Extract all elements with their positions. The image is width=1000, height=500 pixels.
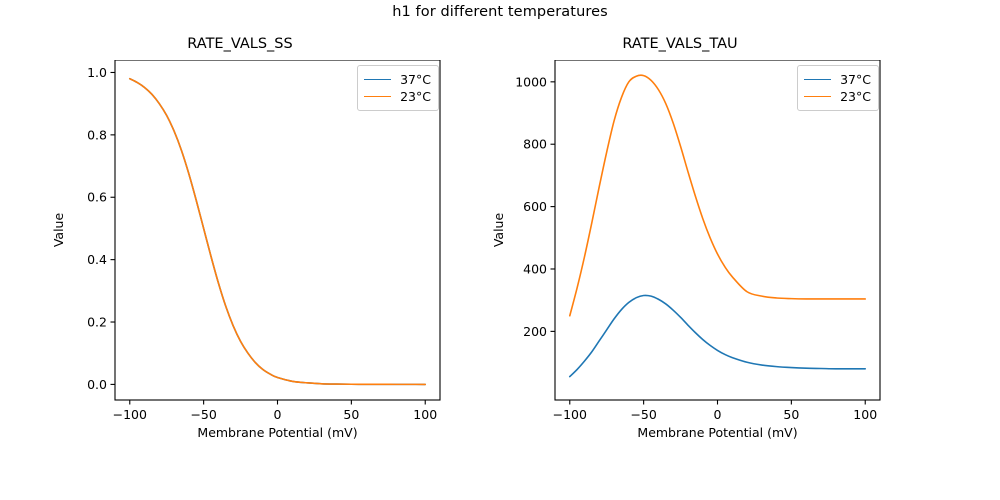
plot-area-tau: 2004006008001000−100−50050100Membrane Po…: [475, 60, 885, 440]
subplot-rate-vals-ss: RATE_VALS_SS 0.00.20.40.60.81.0−100−5005…: [35, 60, 445, 440]
legend-label: 23°C: [840, 88, 871, 105]
y-axis-label: Value: [491, 213, 506, 248]
y-tick-label: 200: [523, 324, 547, 339]
y-tick-label: 800: [523, 137, 547, 152]
legend-label: 23°C: [400, 88, 431, 105]
y-tick-label: 0.2: [87, 315, 107, 330]
legend-entry: 23°C: [364, 88, 431, 105]
subplot-rate-vals-tau: RATE_VALS_TAU 2004006008001000−100−50050…: [475, 60, 885, 440]
x-tick-label: −50: [630, 407, 656, 422]
series-line-23c: [130, 79, 425, 385]
x-tick-label: −100: [553, 407, 587, 422]
legend-entry: 23°C: [804, 88, 871, 105]
x-tick-label: −50: [190, 407, 216, 422]
legend-line-swatch: [364, 96, 391, 97]
series-line-37c: [130, 79, 425, 385]
legend-entry: 37°C: [364, 71, 431, 88]
y-tick-label: 0.6: [87, 190, 107, 205]
y-tick-label: 0.4: [87, 252, 107, 267]
figure-suptitle: h1 for different temperatures: [0, 4, 1000, 20]
x-axis-label: Membrane Potential (mV): [637, 425, 797, 440]
x-tick-label: 0: [274, 407, 282, 422]
legend-entry: 37°C: [804, 71, 871, 88]
matplotlib-figure: h1 for different temperatures RATE_VALS_…: [0, 0, 1000, 500]
y-axis-label: Value: [51, 213, 66, 248]
legend-line-swatch: [364, 79, 391, 80]
series-line-23c: [570, 75, 865, 316]
subplot-title-tau: RATE_VALS_TAU: [475, 36, 885, 52]
subplot-title-ss: RATE_VALS_SS: [35, 36, 445, 52]
x-tick-label: 100: [853, 407, 877, 422]
x-tick-label: −100: [113, 407, 147, 422]
axes-frame: [555, 60, 880, 400]
legend-line-swatch: [804, 79, 831, 80]
y-tick-label: 0.8: [87, 127, 107, 142]
legend-tau[interactable]: 37°C23°C: [797, 65, 879, 111]
legend-line-swatch: [804, 96, 831, 97]
y-tick-label: 400: [523, 261, 547, 276]
plot-area-ss: 0.00.20.40.60.81.0−100−50050100Membrane …: [35, 60, 445, 440]
y-tick-label: 1.0: [87, 65, 107, 80]
legend-label: 37°C: [840, 71, 871, 88]
series-line-37c: [570, 295, 865, 376]
x-tick-label: 50: [783, 407, 799, 422]
legend-ss[interactable]: 37°C23°C: [357, 65, 439, 111]
y-tick-label: 600: [523, 199, 547, 214]
x-tick-label: 50: [343, 407, 359, 422]
y-tick-label: 1000: [515, 74, 547, 89]
x-tick-label: 0: [714, 407, 722, 422]
x-tick-label: 100: [413, 407, 437, 422]
legend-label: 37°C: [400, 71, 431, 88]
x-axis-label: Membrane Potential (mV): [197, 425, 357, 440]
y-tick-label: 0.0: [87, 377, 107, 392]
